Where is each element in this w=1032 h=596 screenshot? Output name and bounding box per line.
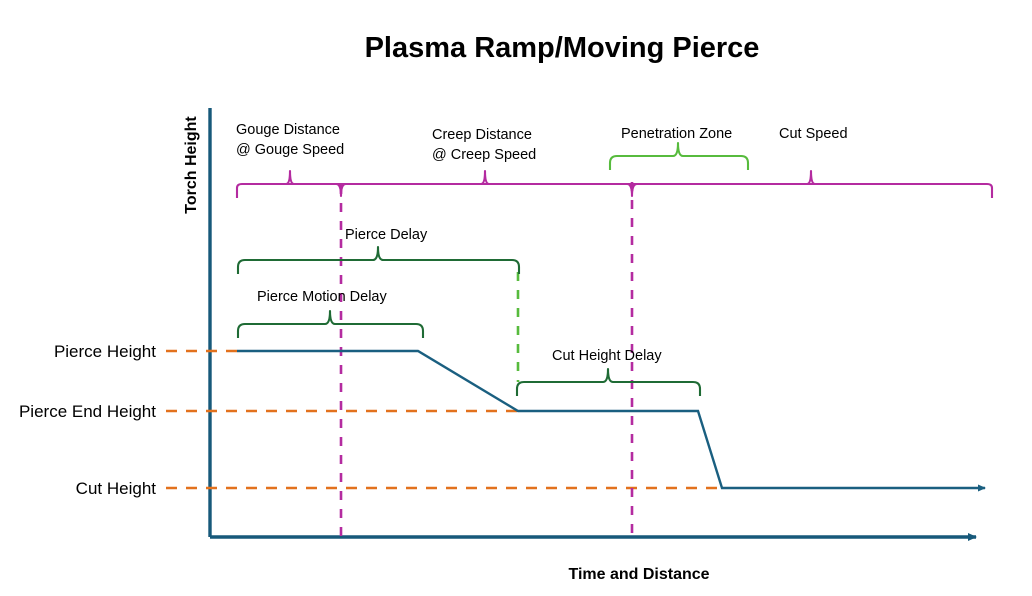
- level-label-pierce-end-height: Pierce End Height: [19, 402, 156, 421]
- bracket-label-cut-height-delay: Cut Height Delay: [552, 348, 662, 364]
- x-axis-title: Time and Distance: [568, 566, 709, 583]
- bracket-label-pierce-delay: Pierce Delay: [345, 227, 428, 243]
- chart-axes: [210, 108, 976, 537]
- bracket-cut-height-delay: [517, 369, 700, 396]
- level-label-group: Pierce HeightPierce End HeightCut Height: [19, 342, 156, 498]
- speed-label-gouge-distance-line2: @ Gouge Speed: [236, 142, 344, 158]
- torch-height-profile-line: [237, 351, 985, 488]
- bracket-penetration-zone: [610, 143, 748, 170]
- speed-tick-cut-speed: [807, 171, 815, 184]
- speed-label-creep-distance-line2: @ Creep Speed: [432, 147, 536, 163]
- page-title: Plasma Ramp/Moving Pierce: [365, 32, 760, 64]
- speed-label-gouge-distance-line1: Gouge Distance: [236, 122, 340, 138]
- speed-rail-line: [237, 184, 992, 198]
- delay-bracket-group: Penetration ZonePierce DelayPierce Motio…: [238, 126, 748, 396]
- speed-rail-group: [237, 171, 992, 198]
- speed-tick-creep-distance: [481, 171, 489, 184]
- bracket-pierce-delay: [238, 247, 519, 274]
- speed-label-cut-speed-line1: Cut Speed: [779, 126, 848, 142]
- plasma-ramp-chart-svg: Plasma Ramp/Moving Pierce Torch Height T…: [0, 0, 1032, 596]
- bracket-label-penetration-zone: Penetration Zone: [621, 126, 732, 142]
- speed-label-creep-distance-line1: Creep Distance: [432, 127, 532, 143]
- bracket-pierce-motion-delay: [238, 311, 423, 338]
- y-axis-title: Torch Height: [183, 116, 200, 214]
- level-label-cut-height: Cut Height: [76, 479, 157, 498]
- level-reference-lines: [166, 351, 718, 488]
- bracket-label-pierce-motion-delay: Pierce Motion Delay: [257, 289, 387, 305]
- level-label-pierce-height: Pierce Height: [54, 342, 156, 361]
- plasma-ramp-diagram: Plasma Ramp/Moving Pierce Torch Height T…: [0, 0, 1032, 596]
- speed-label-group: Gouge Distance@ Gouge SpeedCreep Distanc…: [236, 122, 848, 163]
- speed-tick-gouge-distance: [286, 171, 294, 184]
